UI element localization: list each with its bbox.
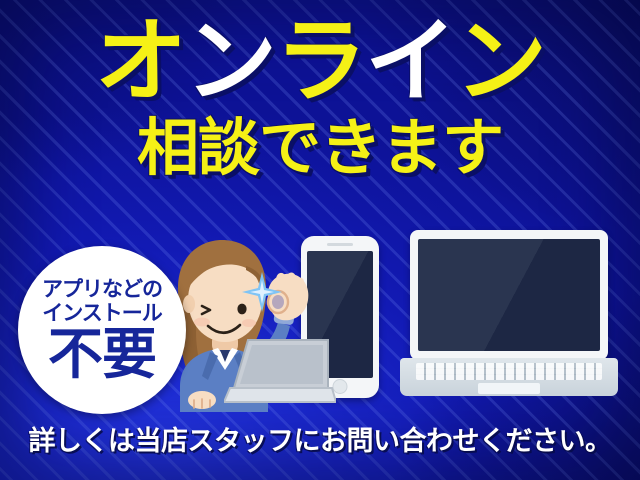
- womans-laptop-screen: [240, 345, 323, 384]
- laptop-trackpad-icon: [478, 383, 540, 394]
- eye: [237, 304, 246, 315]
- badge-emphasis: 不要: [48, 327, 156, 382]
- ear: [183, 295, 195, 313]
- footer-caption: 詳しくは当店スタッフにお問い合わせください。: [0, 419, 640, 458]
- headline-char-4: イ: [365, 16, 455, 108]
- headline-block: オンライン 相談できます: [0, 16, 640, 180]
- headline-char-1: オ: [95, 16, 185, 108]
- womans-laptop-base: [224, 388, 336, 402]
- laptop-lid: [410, 230, 608, 360]
- headline-char-2: ン: [185, 16, 275, 108]
- headline-char-3: ラ: [275, 16, 365, 108]
- phone-speaker-icon: [327, 243, 353, 246]
- headline-line-1: オンライン: [0, 16, 640, 108]
- laptop-illustration: [400, 230, 618, 398]
- ok-hand-gesture: [268, 272, 308, 320]
- womans-laptop-illustration: [224, 336, 336, 408]
- badge-line-1: アプリなどの: [42, 278, 162, 302]
- laptop-keyboard-icon: [416, 363, 602, 380]
- laptop-base: [400, 358, 618, 396]
- blush-right: [242, 319, 256, 327]
- no-install-badge: アプリなどの インストール 不要: [18, 246, 186, 414]
- promo-banner: オンライン 相談できます アプリなどの インストール 不要: [0, 0, 640, 480]
- laptop-screen: [418, 239, 600, 351]
- headline-char-5: ン: [455, 16, 545, 108]
- badge-line-2: インストール: [42, 302, 162, 326]
- headline-line-2: 相談できます: [0, 118, 640, 180]
